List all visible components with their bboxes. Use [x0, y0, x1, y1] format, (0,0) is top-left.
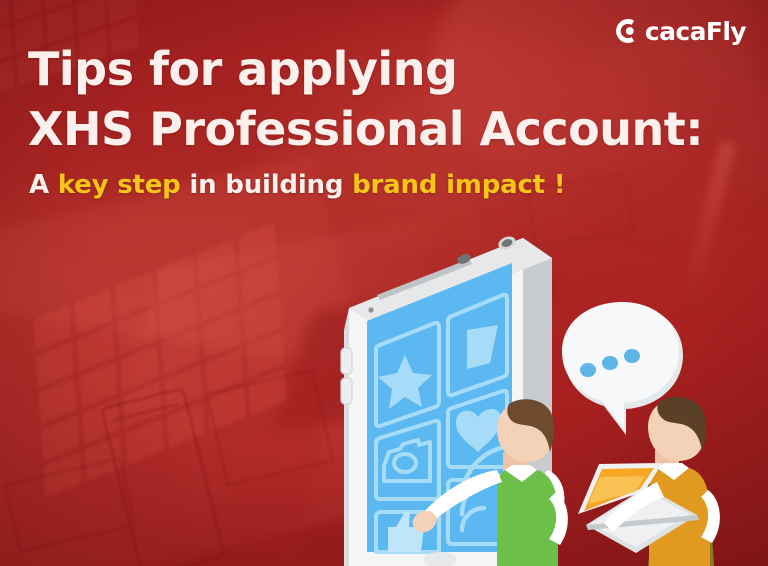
- speech-bubble-dot-2: [602, 356, 618, 370]
- person-holding-laptop: [578, 397, 720, 566]
- phone-volume-button[interactable]: [341, 348, 352, 374]
- phone-microphone-dot: [368, 307, 373, 312]
- promo-banner: cacaFly Tips for applying XHS Profession…: [0, 0, 768, 566]
- phone-left-edge: [344, 308, 349, 566]
- illustration: [0, 0, 768, 566]
- speech-bubble-dot-1: [580, 363, 596, 377]
- speech-bubble-dot-3: [624, 349, 640, 363]
- person-left-vest: [497, 470, 558, 566]
- phone-power-button[interactable]: [341, 378, 352, 404]
